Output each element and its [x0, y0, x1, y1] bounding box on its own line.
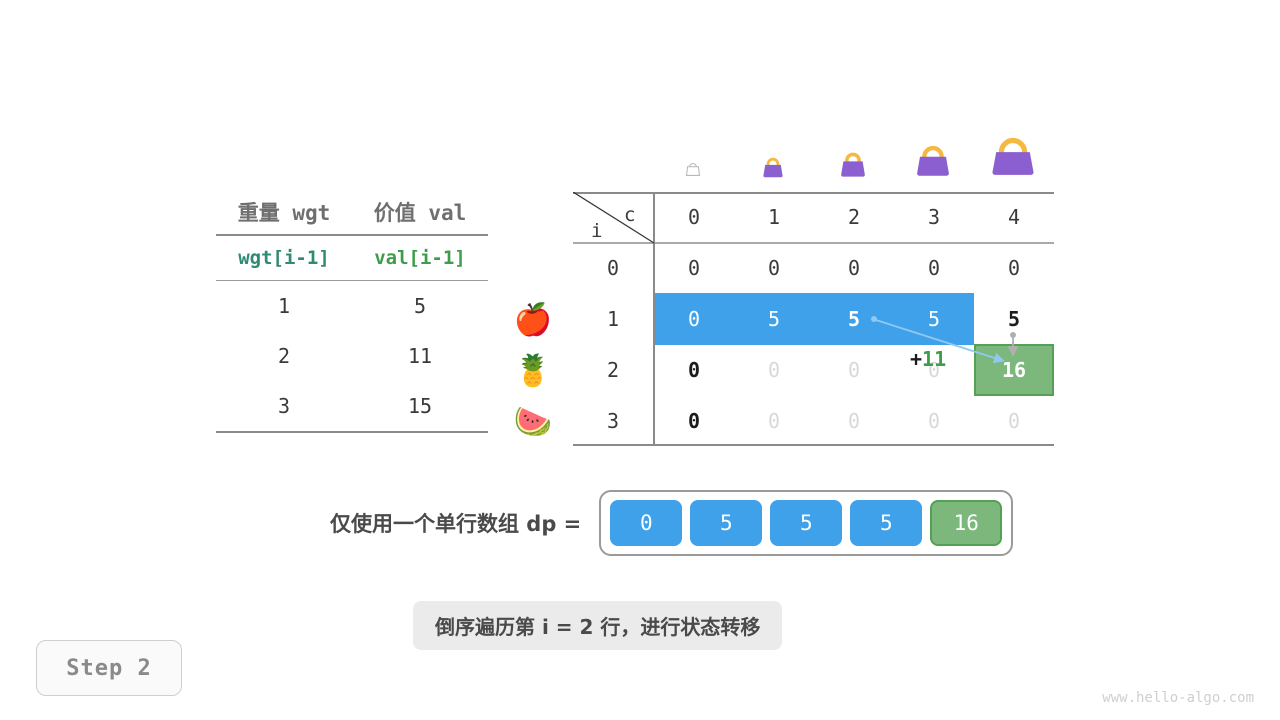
dp-cell-2-0: 0: [654, 345, 734, 395]
left-table-subheader-row: wgt[i-1] val[i-1]: [216, 235, 488, 281]
left-table-bottom-rule: [216, 432, 488, 433]
dp-cell-2-2: 0: [814, 345, 894, 395]
dp-array-label: 仅使用一个单行数组 dp =: [330, 508, 581, 538]
dp-cell-3-3: 0: [894, 396, 974, 446]
dp-col-header-0: 0: [654, 192, 734, 242]
dp-cell-1-0: 0: [654, 294, 734, 344]
corner-diagonal-icon: [573, 192, 655, 244]
dp-cell-0-3: 0: [894, 243, 974, 293]
dp-cell-2-1: 0: [734, 345, 814, 395]
dp-cell-3-2: 0: [814, 396, 894, 446]
dp-col-header-3: 3: [894, 192, 974, 242]
table-row: 1 5: [216, 281, 488, 332]
dp-cell-3-0: 0: [654, 396, 734, 446]
dp-col-header-4: 4: [974, 192, 1054, 242]
header-weight: 重量 wgt: [216, 190, 352, 235]
corner-label-column: c: [624, 204, 635, 226]
table-row: 2 11: [216, 331, 488, 381]
dp-array-cell-2: 5: [770, 500, 842, 546]
bag-icon-capacity-4: [982, 125, 1044, 187]
dp-cell-0-1: 0: [734, 243, 814, 293]
dp-single-array-section: 仅使用一个单行数组 dp = 0 5 5 5 16: [330, 492, 1013, 554]
cell-wgt-2: 2: [216, 331, 352, 381]
dp-cell-1-3: 5: [894, 294, 974, 344]
dp-cell-0-0: 0: [654, 243, 734, 293]
dp-cell-1-1: 5: [734, 294, 814, 344]
cell-val-2: 11: [352, 331, 488, 381]
cell-wgt-3: 3: [216, 381, 352, 432]
table-row: 3 15: [216, 381, 488, 432]
dp-matrix-table: c i 0 1 2 3 4 0 1 2 3 0 0 0 0 0 0 5 5 5 …: [573, 192, 1054, 446]
dp-row-header-0: 0: [573, 243, 653, 293]
subheader-val-index: val[i-1]: [352, 235, 488, 281]
watermark: www.hello-algo.com: [1102, 690, 1254, 706]
pineapple-icon: 🍍: [505, 356, 561, 387]
dp-array-cell-3: 5: [850, 500, 922, 546]
add-operator: +: [910, 347, 922, 371]
dp-cell-3-1: 0: [734, 396, 814, 446]
apple-icon: 🍎: [505, 305, 561, 336]
bag-icon-capacity-0: [680, 157, 706, 183]
bag-icon-capacity-2: [832, 143, 874, 185]
dp-cell-2-4: 16: [974, 345, 1054, 395]
header-value: 价值 val: [352, 190, 488, 235]
cell-val-1: 5: [352, 281, 488, 332]
dp-array-cell-4: 16: [930, 500, 1002, 546]
cell-wgt-1: 1: [216, 281, 352, 332]
diagram-canvas: 重量 wgt 价值 val wgt[i-1] val[i-1] 1 5 2 11…: [0, 0, 1280, 720]
left-table-header-row: 重量 wgt 价值 val: [216, 190, 488, 235]
value-add-annotation: +11: [910, 347, 946, 371]
dp-col-header-1: 1: [734, 192, 814, 242]
dp-array-cell-0: 0: [610, 500, 682, 546]
bag-icon-capacity-3: [907, 134, 959, 186]
dp-cell-1-2: 5: [814, 294, 894, 344]
item-weight-value-table: 重量 wgt 价值 val wgt[i-1] val[i-1] 1 5 2 11…: [216, 190, 488, 433]
add-value: 11: [922, 347, 946, 371]
watermelon-icon: 🍉: [505, 407, 561, 438]
cell-val-3: 15: [352, 381, 488, 432]
step-badge: Step 2: [36, 640, 182, 696]
corner-label-row: i: [591, 220, 602, 242]
dp-row-header-3: 3: [573, 396, 653, 446]
dp-cell-3-4: 0: [974, 396, 1054, 446]
subheader-wgt-index: wgt[i-1]: [216, 235, 352, 281]
bag-icon-capacity-1: [756, 150, 790, 184]
dp-cell-1-4: 5: [974, 294, 1054, 344]
dp-array-cell-1: 5: [690, 500, 762, 546]
dp-cell-0-2: 0: [814, 243, 894, 293]
dp-col-header-2: 2: [814, 192, 894, 242]
dp-array-container: 0 5 5 5 16: [599, 490, 1013, 556]
dp-row-header-2: 2: [573, 345, 653, 395]
dp-cell-0-4: 0: [974, 243, 1054, 293]
dp-row-header-1: 1: [573, 294, 653, 344]
step-caption: 倒序遍历第 i = 2 行，进行状态转移: [413, 601, 782, 650]
